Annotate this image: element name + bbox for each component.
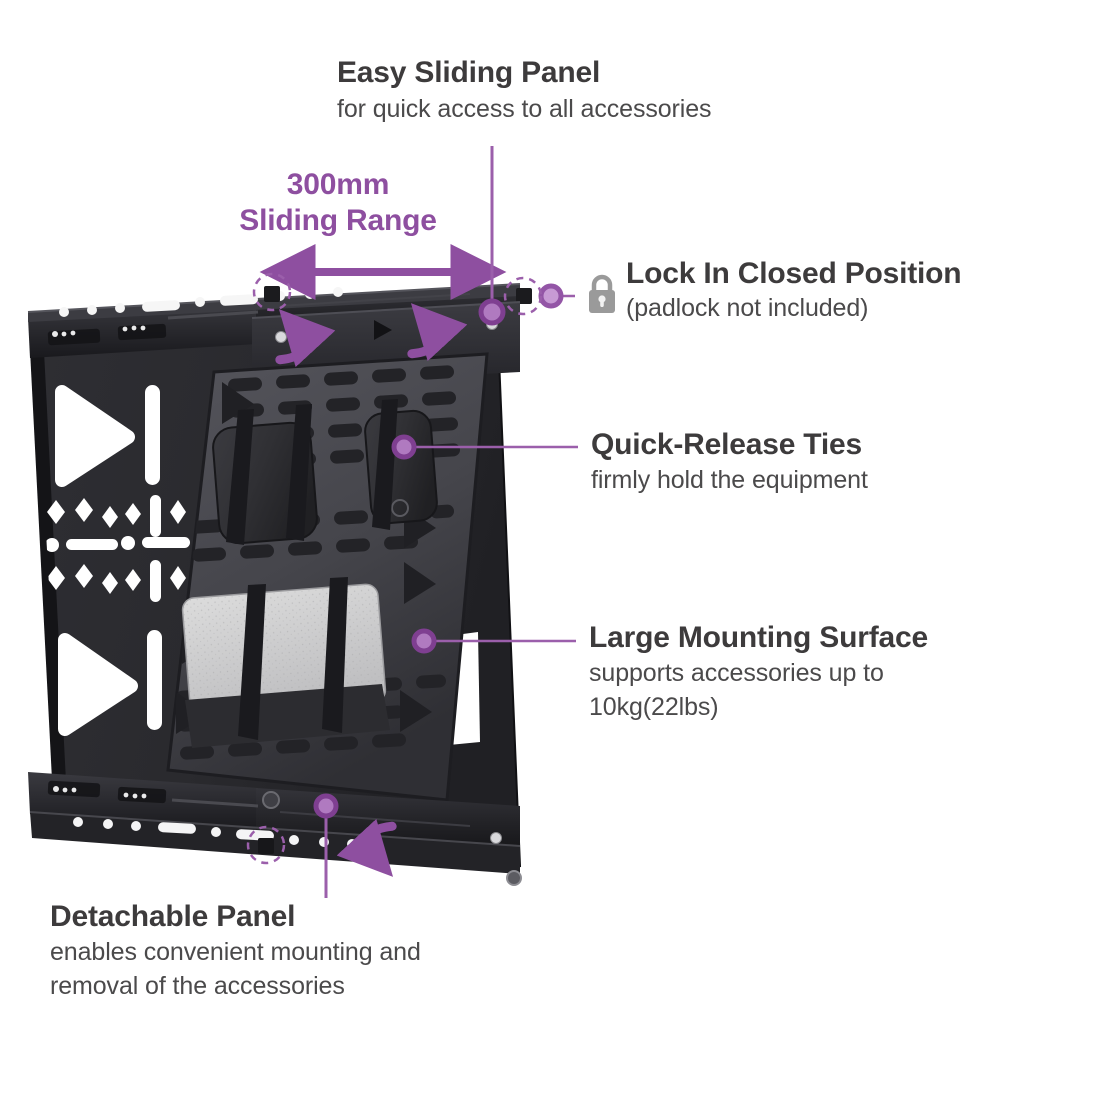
- infographic-stage: Easy Sliding Panel for quick access to a…: [0, 0, 1100, 1100]
- callout-subtitle-line2: 10kg(22lbs): [589, 692, 1039, 724]
- callout-subtitle-line2: removal of the accessories: [50, 971, 610, 1003]
- callout-large-mounting-surface: Large Mounting Surface supports accessor…: [589, 621, 1039, 724]
- sliding-range-label: Sliding Range: [193, 203, 483, 239]
- sliding-range-value: 300mm: [193, 167, 483, 203]
- callout-title: Quick-Release Ties: [591, 428, 868, 462]
- callout-easy-sliding-panel: Easy Sliding Panel for quick access to a…: [337, 56, 711, 125]
- callout-lock-in-closed-position: Lock In Closed Position (padlock not inc…: [626, 257, 961, 324]
- callout-quick-release-ties: Quick-Release Ties firmly hold the equip…: [591, 428, 868, 496]
- callout-subtitle: for quick access to all accessories: [337, 94, 711, 126]
- callout-title: Detachable Panel: [50, 900, 610, 934]
- callout-title: Large Mounting Surface: [589, 621, 1039, 655]
- callout-subtitle: firmly hold the equipment: [591, 465, 868, 497]
- callout-sliding-range: 300mm Sliding Range: [193, 167, 483, 239]
- callout-subtitle: (padlock not included): [626, 293, 961, 325]
- callout-title: Easy Sliding Panel: [337, 56, 711, 90]
- callout-subtitle-line1: enables convenient mounting and: [50, 937, 610, 969]
- callout-detachable-panel: Detachable Panel enables convenient moun…: [50, 900, 610, 1003]
- padlock-icon: [584, 273, 620, 315]
- mounting-tray: [168, 354, 487, 800]
- accessory-device-gray: [182, 583, 390, 748]
- callout-title: Lock In Closed Position: [626, 257, 961, 291]
- callout-subtitle-line1: supports accessories up to: [589, 658, 1039, 690]
